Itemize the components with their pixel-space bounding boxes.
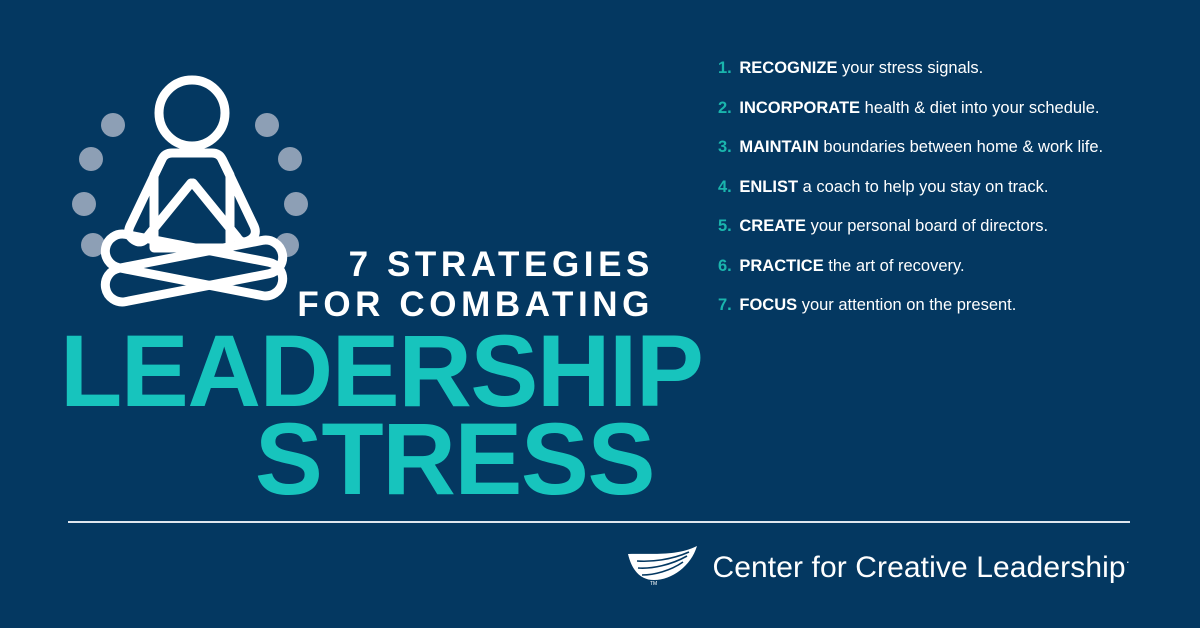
list-item-text: your stress signals. [842,59,983,77]
kicker-line-1: 7 STRATEGIES [60,245,654,285]
list-item: 1. RECOGNIZE your stress signals. [718,58,1168,78]
figure-torso [154,153,230,248]
brand-logo: TM Center for Creative Leadership· [627,540,1130,590]
list-item-number: 3. [718,138,732,156]
list-item-number: 2. [718,99,732,117]
logo-wordmark: Center for Creative Leadership· [712,545,1130,585]
list-item-keyword: MAINTAIN [739,138,818,156]
list-item: 6. PRACTICE the art of recovery. [718,256,1168,276]
strategies-list: 1. RECOGNIZE your stress signals. 2. INC… [718,58,1168,315]
list-item-keyword: RECOGNIZE [739,59,837,77]
svg-text:TM: TM [650,581,657,586]
list-item-text: the art of recovery. [828,257,964,275]
page-title: LEADERSHIP STRESS [60,327,654,503]
list-item-keyword: PRACTICE [739,257,823,275]
kicker-headline: 7 STRATEGIES FOR COMBATING [60,245,654,325]
figure-head [159,80,225,146]
logo-name: Center for Creative Leadership [712,551,1125,584]
list-item: 7. FOCUS your attention on the present. [718,295,1168,315]
list-item-text: a coach to help you stay on track. [803,178,1049,196]
list-item: 5. CREATE your personal board of directo… [718,216,1168,236]
figure-right-arm [193,159,255,242]
list-item: 3. MAINTAIN boundaries between home & wo… [718,137,1168,157]
list-item: 2. INCORPORATE health & diet into your s… [718,98,1168,118]
title-line-2: STRESS [60,415,654,503]
list-item-keyword: INCORPORATE [739,99,860,117]
swoosh-logo-icon: TM [627,544,701,586]
list-item-text: your personal board of directors. [811,217,1049,235]
list-item-number: 4. [718,178,732,196]
list-item-keyword: CREATE [739,217,806,235]
list-item-number: 5. [718,217,732,235]
list-item-keyword: FOCUS [739,296,797,314]
list-item-number: 6. [718,257,732,275]
list-item-keyword: ENLIST [739,178,798,196]
figure-left-arm [129,159,191,242]
list-item-text: health & diet into your schedule. [865,99,1100,117]
infographic-canvas: 7 STRATEGIES FOR COMBATING LEADERSHIP ST… [0,0,1200,628]
horizontal-divider [68,521,1130,523]
list-item-text: your attention on the present. [802,296,1017,314]
list-item-number: 1. [718,59,732,77]
logo-trademark: · [1126,554,1130,569]
list-item-number: 7. [718,296,732,314]
list-item: 4. ENLIST a coach to help you stay on tr… [718,177,1168,197]
list-item-text: boundaries between home & work life. [823,138,1103,156]
